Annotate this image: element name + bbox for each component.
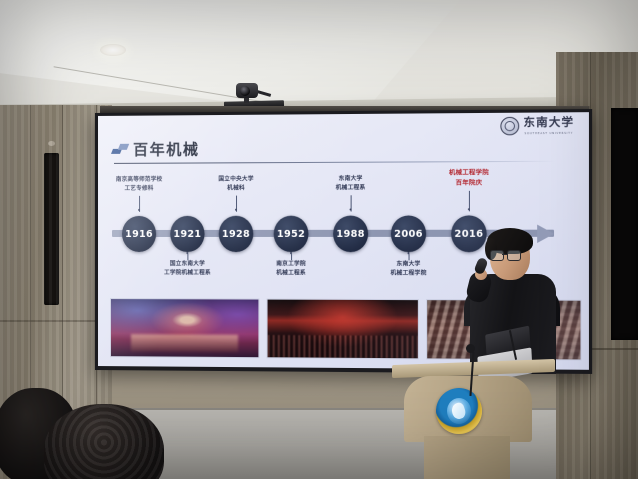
timeline-node: 1988 bbox=[333, 216, 368, 253]
glasses-icon bbox=[490, 250, 520, 259]
timeline-node: 1952 bbox=[274, 216, 309, 252]
timeline-label: 东南大学机械工程系 bbox=[313, 175, 389, 193]
title-underline bbox=[114, 161, 556, 164]
timeline-label: 国立东南大学工学院机械工程系 bbox=[150, 260, 225, 278]
timeline-node-year: 1928 bbox=[222, 228, 250, 239]
university-emblem-icon bbox=[436, 388, 482, 434]
timeline-node-year: 1988 bbox=[336, 228, 364, 239]
title-mark-icon bbox=[112, 144, 128, 158]
podium-base bbox=[424, 436, 510, 479]
camera-lens-icon bbox=[240, 86, 250, 96]
timeline-label: 南京工学院机械工程系 bbox=[253, 260, 329, 278]
ceiling-downlight-icon bbox=[100, 44, 126, 56]
timeline-node-year: 1916 bbox=[125, 228, 153, 239]
ceremony-stage-photo bbox=[110, 298, 259, 358]
timeline-node: 1928 bbox=[219, 216, 254, 252]
timeline-label: 南京高等师范学校工艺专修科 bbox=[102, 176, 176, 194]
university-name-zh: 东南大学 bbox=[523, 116, 574, 128]
timeline-node: 1921 bbox=[170, 216, 204, 252]
university-name-en: SOUTHEAST UNIVERSITY bbox=[525, 133, 574, 136]
timeline-label: 机械工程学院百年院庆 bbox=[430, 168, 507, 188]
timeline-label: 东南大学机械工程学院 bbox=[370, 260, 447, 278]
lecture-hall-scene: 东南大学 SOUTHEAST UNIVERSITY 百年机械 1916 bbox=[0, 0, 638, 479]
black-wall-panel bbox=[611, 108, 638, 340]
slide-title: 百年机械 bbox=[133, 142, 199, 157]
wall-fixture-dot bbox=[48, 141, 55, 146]
university-seal-icon bbox=[500, 117, 519, 136]
timeline-label: 国立中央大学机械科 bbox=[199, 175, 274, 193]
timeline-tick bbox=[291, 254, 292, 260]
timeline-node: 1916 bbox=[122, 216, 156, 252]
timeline-tick bbox=[409, 254, 410, 260]
slide-title-row: 百年机械 bbox=[112, 142, 200, 158]
timeline-node-year: 1921 bbox=[173, 228, 201, 239]
timeline-tick bbox=[187, 254, 188, 260]
timeline-node: 2006 bbox=[391, 215, 426, 252]
timeline-node-year: 1952 bbox=[277, 228, 305, 239]
timeline-node-year: 2006 bbox=[394, 228, 423, 239]
microphone-head-icon bbox=[466, 344, 475, 353]
university-logo: 东南大学 SOUTHEAST UNIVERSITY bbox=[500, 116, 574, 136]
wall-speaker-slot bbox=[44, 153, 59, 305]
auditorium-photo bbox=[267, 299, 419, 360]
